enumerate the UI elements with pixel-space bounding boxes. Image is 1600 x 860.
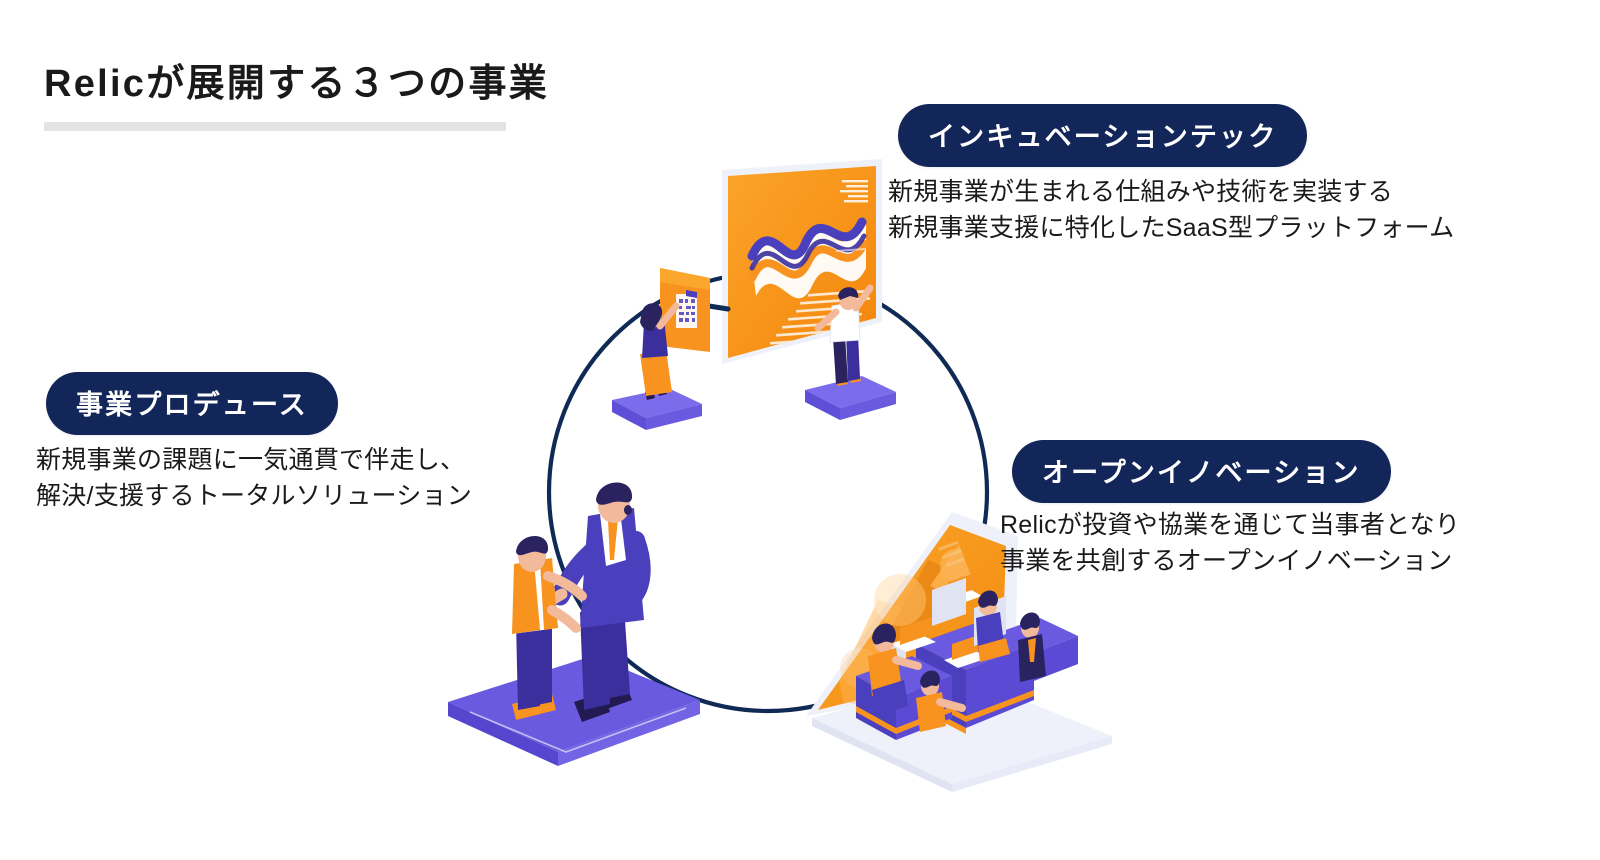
description-line: 事業を共創するオープンイノベーション	[1000, 544, 1460, 580]
page-title: Relicが展開する３つの事業	[44, 62, 549, 108]
office-person-a	[976, 590, 1010, 662]
figure-businessman	[552, 482, 644, 722]
description-open-innovation: Relicが投資や協業を通じて当事者となり 事業を共創するオープンイノベーション	[1000, 508, 1460, 579]
badge-business-produce[interactable]: 事業プロデュース	[46, 372, 338, 435]
badge-incubation-tech[interactable]: インキュベーションテック	[898, 104, 1307, 167]
handshake-scene	[448, 482, 700, 766]
badge-open-innovation[interactable]: オープンイノベーション	[1012, 440, 1391, 503]
figure-woman-left	[612, 303, 702, 430]
slide-canvas: Relicが展開する３つの事業	[0, 0, 1600, 860]
description-business-produce: 新規事業の課題に一気通貫で伴走し、 解決/支援するトータルソリューション	[36, 443, 472, 514]
description-line: 解決/支援するトータルソリューション	[36, 479, 472, 515]
description-line: 新規事業支援に特化したSaaS型プラットフォーム	[888, 211, 1454, 247]
connector-circle	[549, 273, 987, 711]
figure-man-right	[805, 287, 896, 420]
description-incubation-tech: 新規事業が生まれる仕組みや技術を実装する 新規事業支援に特化したSaaS型プラッ…	[888, 175, 1454, 246]
description-line: 新規事業が生まれる仕組みや技術を実装する	[888, 175, 1454, 211]
page-title-block: Relicが展開する３つの事業	[44, 62, 549, 131]
figure-orange-vest	[512, 536, 582, 720]
dashboard-screen-scene	[612, 159, 896, 430]
office-person-c	[868, 623, 918, 716]
description-line: 新規事業の課題に一気通貫で伴走し、	[36, 443, 472, 479]
description-line: Relicが投資や協業を通じて当事者となり	[1000, 508, 1460, 544]
office-cubicles	[856, 572, 1078, 860]
title-underline	[44, 122, 506, 131]
office-person-d	[916, 670, 962, 732]
office-person-b	[1018, 612, 1046, 682]
